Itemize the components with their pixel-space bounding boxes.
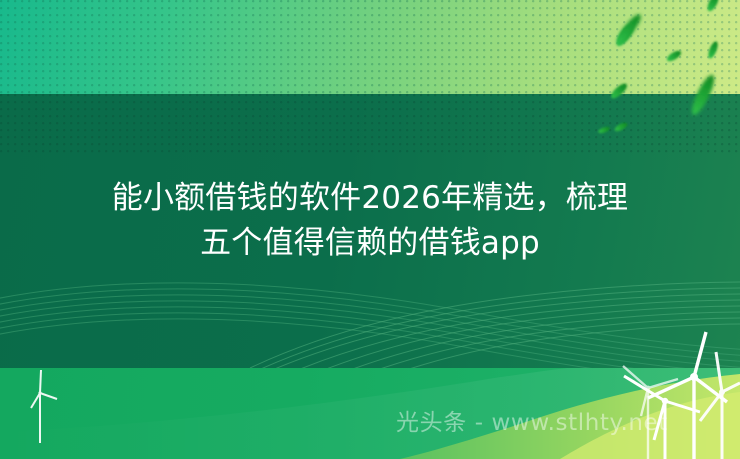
halftone-dot-pattern-mid — [0, 94, 740, 156]
watermark-text: 光头条 - www.stlhty.net — [396, 403, 668, 437]
top-gradient-band — [0, 0, 740, 94]
page-title: 能小额借钱的软件2026年精选，梳理 五个值得信赖的借钱app — [0, 176, 740, 266]
dot-fade-overlay — [0, 0, 740, 94]
promo-banner: 能小额借钱的软件2026年精选，梳理 五个值得信赖的借钱app 光头条 - ww… — [0, 0, 740, 459]
